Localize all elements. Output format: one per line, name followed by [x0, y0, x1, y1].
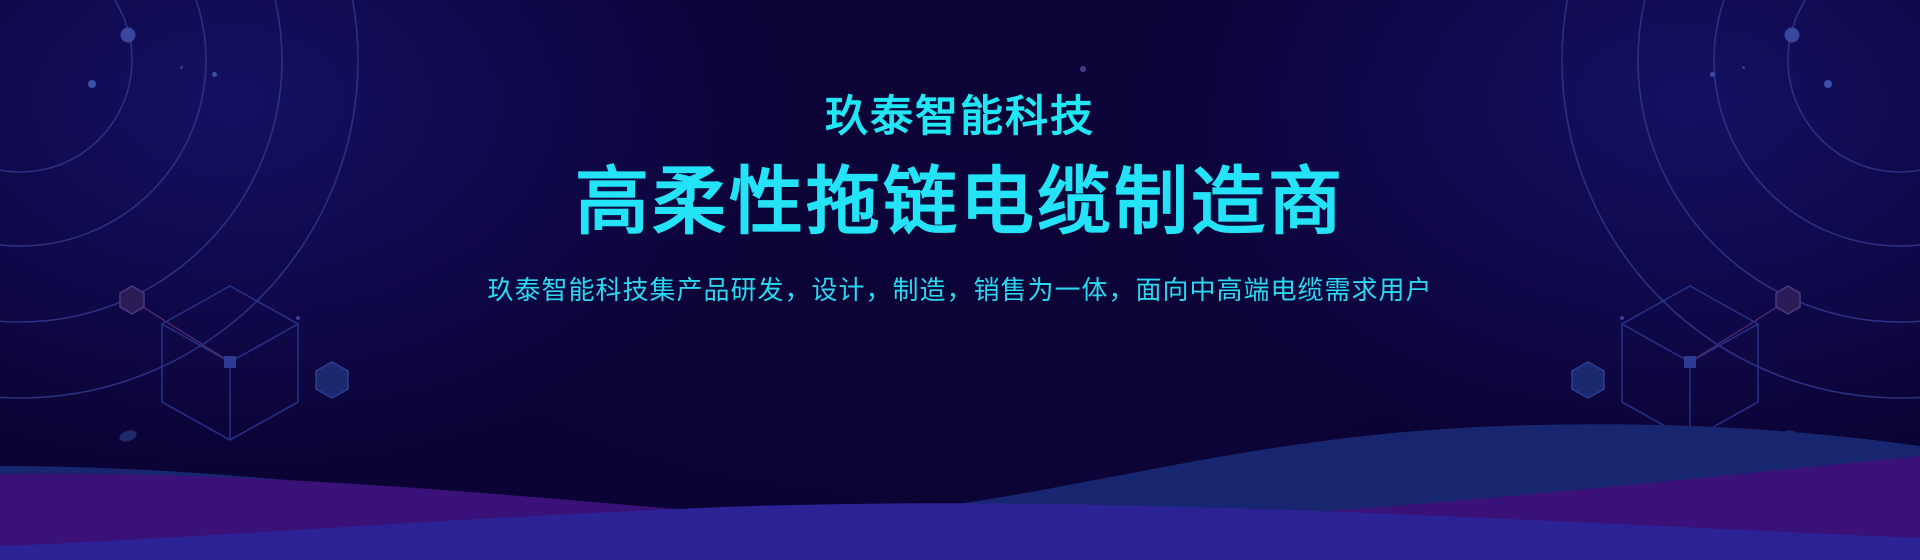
hero-banner: 玖泰智能科技 高柔性拖链电缆制造商 玖泰智能科技集产品研发，设计，制造，销售为一…	[0, 0, 1920, 560]
banner-subtitle: 玖泰智能科技集产品研发，设计，制造，销售为一体，面向中高端电缆需求用户	[487, 277, 1432, 303]
banner-headline: 高柔性拖链电缆制造商	[575, 165, 1345, 239]
banner-content: 玖泰智能科技 高柔性拖链电缆制造商 玖泰智能科技集产品研发，设计，制造，销售为一…	[0, 0, 1920, 560]
banner-eyebrow: 玖泰智能科技	[825, 96, 1095, 139]
